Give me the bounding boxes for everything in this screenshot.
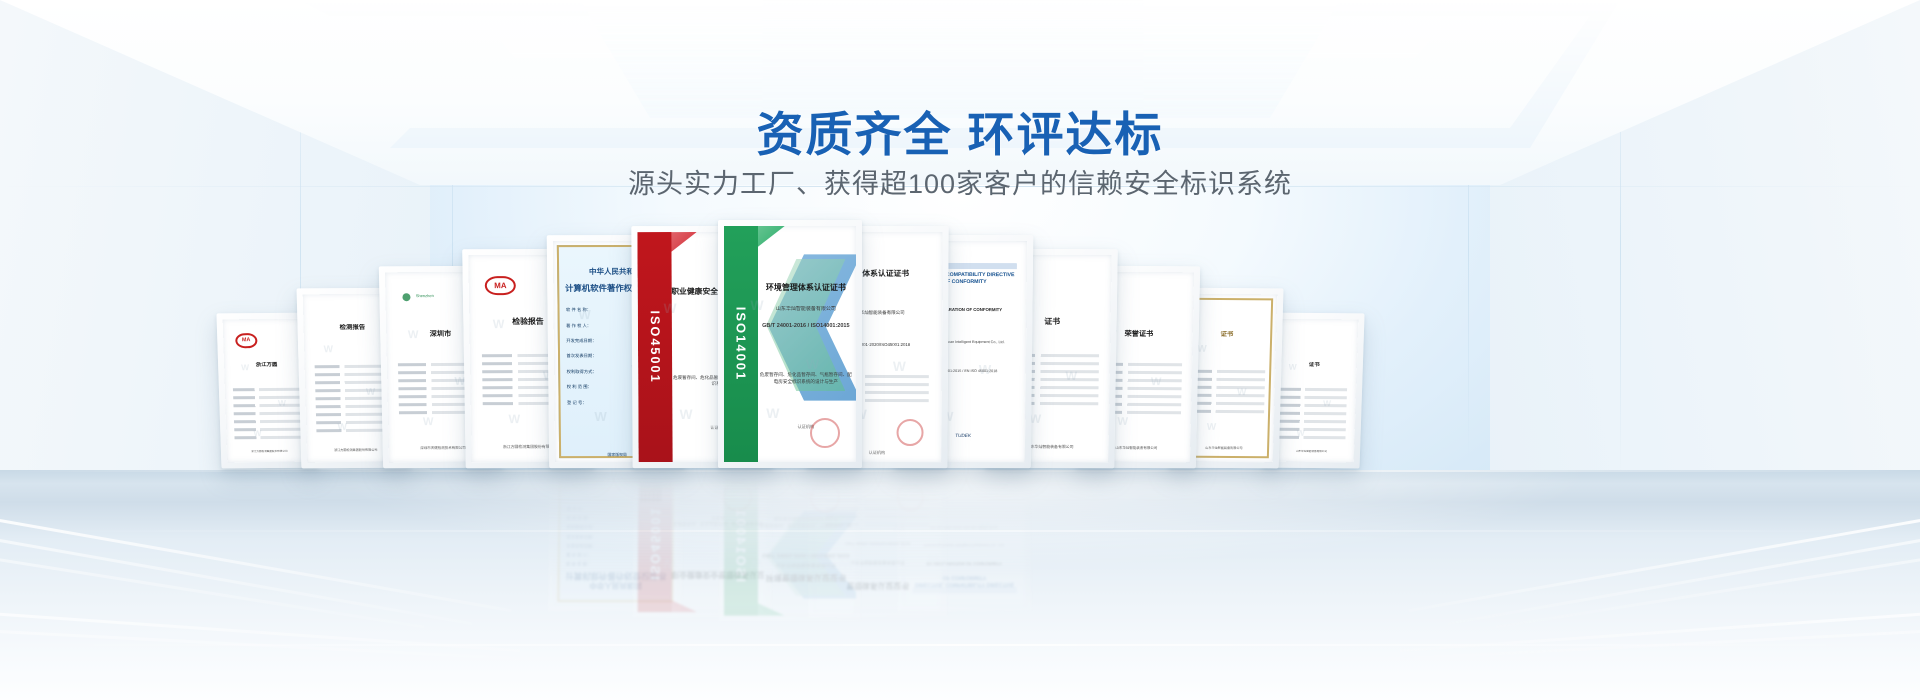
certificate-issuer: 山东华灿智能装备有限公司 [1083, 480, 1192, 485]
paper-watermark: W [1118, 489, 1129, 501]
paper-watermark: W [1296, 427, 1304, 437]
body-line [1278, 419, 1346, 423]
certificate-paper: 证书山东华灿智能装备有限公司WWW [1268, 318, 1358, 462]
paper-watermark: W [366, 386, 376, 397]
certificate-title: 浙江方圆 [224, 525, 309, 533]
paper-watermark: W [594, 409, 607, 424]
paper-watermark: W [1197, 533, 1207, 544]
paper-watermark: W [508, 412, 520, 426]
paper-watermark: W [422, 489, 433, 501]
paper-watermark: W [277, 397, 285, 407]
paper-watermark: W [241, 362, 249, 372]
issuer-logo-label: Shenzhen [417, 569, 482, 575]
body-line [1279, 403, 1347, 407]
body-line [1095, 506, 1182, 509]
certificate-title: 证书 [1271, 361, 1356, 369]
paper-watermark: W [1297, 484, 1305, 494]
body-line [1278, 483, 1346, 487]
certificate-frame-reflection: 证书山东华灿智能装备有限公司WWW [1169, 468, 1282, 581]
body-line [1095, 514, 1182, 517]
paper-watermark: W [508, 490, 520, 504]
frame-mat-reflection [387, 475, 496, 587]
body-line [399, 482, 486, 485]
certificate-body-lines [1277, 474, 1347, 518]
table-row [315, 521, 393, 525]
paper-watermark: W [892, 358, 905, 373]
paper-watermark: W [806, 356, 819, 372]
body-line [1187, 526, 1265, 530]
certificate-issuer: 山东华灿智能装备有限公司 [1269, 450, 1354, 454]
body-line [234, 483, 302, 487]
certificate-body-lines [398, 477, 486, 533]
paper-watermark: W [324, 533, 334, 544]
body-line [1187, 369, 1265, 373]
body-line [398, 514, 485, 517]
body-line [1277, 435, 1345, 439]
table-row [316, 505, 394, 509]
body-line [234, 411, 302, 415]
body-line [233, 387, 301, 391]
certificate-title: 深圳市 [387, 543, 496, 553]
body-line [1279, 395, 1347, 399]
paper-watermark: W [1237, 508, 1247, 519]
body-line [398, 506, 485, 509]
body-line [1095, 530, 1182, 533]
paper-watermark: W [252, 484, 260, 494]
paper-watermark: W [750, 297, 763, 313]
certificate-paper-reflection: Shenzhen深圳市深圳市天健检测技术有限公司WWW [386, 474, 497, 588]
certificate-paper-reflection: 荣誉证书山东华灿智能装备有限公司WWW [1083, 474, 1194, 588]
body-line [1279, 387, 1347, 391]
frame-mat-reflection [224, 475, 310, 558]
body-line [1095, 522, 1182, 525]
certificate-paper-reflection: 证书山东华灿智能装备有限公司WWW [1269, 474, 1357, 559]
body-line [1095, 498, 1182, 501]
certificate-frame-reflection: 检测报告浙江方圆检测集团股份有限公司WWW [298, 468, 411, 581]
certificate-paper-reflection: 检测报告浙江方圆检测集团股份有限公司WWW [304, 474, 404, 574]
certificate-body-lines [233, 387, 303, 444]
certificate-frame-reflection: Shenzhen深圳市深圳市天健检测技术有限公司WWW [380, 468, 503, 594]
certificate-title: 证书 [1178, 543, 1276, 552]
certificate-title: 环境管理体系认证证书 [758, 283, 853, 294]
body-line [1186, 401, 1264, 405]
paper-watermark: W [337, 487, 347, 498]
certificate-frame-reflection: 荣誉证书山东华灿智能装备有限公司WWW [1077, 468, 1200, 594]
certificate-paper-reflection: ISO14001 环境管理体系认证证书GB/T 24001-2016 / ISO… [724, 474, 856, 616]
certificate-body-lines [1186, 481, 1265, 530]
certificate-table [315, 474, 395, 532]
paper-watermark: W [979, 363, 992, 378]
body-line [233, 395, 301, 399]
body-line [233, 507, 301, 511]
certificate-seal [810, 483, 840, 513]
body-line [1094, 482, 1181, 485]
paper-watermark: W [680, 492, 693, 507]
paper-watermark: W [493, 317, 505, 331]
paper-watermark: W [1106, 541, 1117, 553]
paper-watermark: W [664, 556, 677, 571]
paper-watermark: W [493, 546, 505, 560]
table-row [316, 474, 394, 476]
body-line [1186, 486, 1264, 490]
body-line [1279, 507, 1347, 511]
certificate-paper-reflection: MA浙江方圆浙江方圆检测集团股份有限公司WWW [223, 474, 311, 559]
body-line [399, 490, 486, 493]
paper-watermark: W [454, 513, 465, 525]
certificate-body-lines [233, 474, 303, 518]
certificate-frame-reflection: 证书山东华灿智能装备有限公司WWW [1263, 468, 1363, 565]
certificate-standard: GB/T 24001-2016 / ISO14001:2015 [758, 323, 853, 330]
paper-watermark: W [750, 557, 763, 573]
paper-watermark: W [578, 308, 591, 323]
paper-watermark: W [1207, 487, 1217, 498]
table-row [316, 497, 394, 501]
frame-mat-reflection [1270, 475, 1356, 558]
certificate-wall: MA浙江方圆浙江方圆检测集团股份有限公司WWWMA浙江方圆浙江方圆检测集团股份有… [0, 0, 1920, 700]
paper-watermark: W [1197, 344, 1207, 355]
certificate-standard-code: ISO14001 [734, 508, 749, 583]
certificate-gold-border [1180, 478, 1272, 570]
body-line [1187, 377, 1265, 381]
paper-watermark: W [277, 502, 285, 512]
body-line [234, 499, 302, 503]
issuer-logo-icon [403, 566, 411, 574]
paper-watermark: W [766, 492, 779, 508]
certificate-issuer: 浙江方圆检测集团股份有限公司 [306, 480, 404, 485]
certificate-seal [896, 419, 924, 446]
certificate-standard-code: ISO14001 [734, 307, 749, 382]
frame-mat-reflection [1177, 475, 1275, 573]
body-line [1278, 491, 1346, 495]
paper-watermark: W [338, 422, 348, 433]
cma-badge-icon: MA [235, 333, 257, 347]
paper-watermark: W [241, 523, 249, 533]
body-line [234, 475, 302, 479]
certificate-side-band: ISO14001 [724, 226, 758, 462]
body-line [1278, 411, 1346, 415]
banner-stage: 资质齐全 环评达标 源头实力工厂、获得超100家客户的信赖安全标识系统 MA浙江… [0, 0, 1920, 700]
paper-watermark: W [1323, 502, 1331, 512]
body-line [1278, 499, 1346, 503]
certificate-standard-code: ISO45001 [648, 506, 662, 579]
cma-badge-icon: MA [485, 276, 516, 295]
table-row [316, 481, 394, 485]
table-row [315, 513, 393, 517]
issuer-logo-icon [403, 293, 411, 301]
certificate-title: 荣誉证书 [1085, 543, 1194, 553]
certificate-body-lines [1277, 387, 1347, 444]
certificate-issuer: 深圳市天健检测技术有限公司 [388, 480, 497, 485]
body-line [235, 435, 303, 439]
certificate-paper: ISO14001 环境管理体系认证证书GB/T 24001-2016 / ISO… [724, 226, 856, 462]
body-line [1186, 494, 1264, 498]
certificate-side-band: ISO45001 [638, 474, 672, 612]
paper-watermark: W [423, 417, 434, 429]
paper-watermark: W [664, 301, 677, 316]
paper-watermark: W [324, 344, 334, 355]
body-line [398, 530, 485, 533]
certificate-title: 证书 [1271, 525, 1356, 533]
table-row [316, 489, 394, 493]
paper-watermark: W [408, 329, 419, 341]
paper-watermark: W [1065, 369, 1077, 383]
certificate-standard: GB/T 24001-2016 / ISO14001:2015 [758, 550, 853, 557]
body-line [1186, 409, 1264, 413]
certificate-issuer: 山东华灿智能装备有限公司 [1269, 479, 1354, 483]
paper-watermark: W [1288, 362, 1296, 372]
certificate-frame-reflection: ISO14001 环境管理体系认证证书GB/T 24001-2016 / ISO… [718, 468, 862, 622]
paper-watermark: W [408, 541, 419, 553]
body-line [233, 515, 301, 519]
cma-badge-icon: MA [235, 535, 257, 549]
paper-watermark: W [366, 508, 376, 519]
body-line [1278, 475, 1346, 479]
paper-watermark: W [594, 491, 607, 506]
paper-watermark: W [1323, 398, 1331, 408]
certificate-company: 山东华灿智能装备有限公司 [758, 561, 853, 568]
certificate-issuer: 浙江方圆检测集团股份有限公司 [226, 479, 311, 483]
paper-watermark: W [1118, 416, 1129, 428]
paper-watermark: W [1151, 377, 1162, 389]
certificate-issuer: 山东华灿智能装备有限公司 [1176, 481, 1274, 486]
paper-watermark: W [1151, 513, 1162, 525]
paper-watermark: W [1237, 386, 1247, 397]
certificate-title: 浙江方圆 [224, 361, 309, 369]
paper-watermark: W [578, 551, 591, 566]
certificate-frame-reflection: MA浙江方圆浙江方圆检测集团股份有限公司WWW [217, 468, 317, 565]
paper-watermark: W [979, 518, 992, 533]
paper-watermark: W [893, 521, 906, 536]
frame-mat-reflection [305, 475, 403, 573]
body-line [1278, 427, 1346, 431]
body-line [1186, 502, 1264, 506]
paper-watermark: W [253, 428, 261, 438]
body-line [399, 498, 486, 501]
certificate-frame[interactable]: ISO14001 环境管理体系认证证书GB/T 24001-2016 / ISO… [718, 220, 862, 468]
table-row [315, 529, 393, 533]
paper-watermark: W [766, 405, 779, 421]
body-line [1186, 393, 1264, 397]
certificate-standard-code: ISO45001 [648, 310, 662, 383]
certificate-side-band: ISO14001 [724, 474, 758, 616]
body-line [1279, 515, 1347, 519]
paper-watermark: W [1207, 421, 1217, 432]
paper-watermark: W [680, 407, 693, 422]
certificate-paper-reflection: 证书山东华灿智能装备有限公司WWW [1176, 474, 1276, 574]
certificate-seal [810, 418, 840, 448]
certificate-side-band: ISO45001 [638, 232, 673, 462]
frame-mat-reflection [1084, 475, 1193, 587]
body-line [1094, 490, 1181, 493]
certificate-title: 检测报告 [304, 547, 402, 556]
certificate-seal [896, 484, 924, 511]
body-line [234, 491, 302, 495]
paper-watermark: W [1065, 516, 1077, 530]
body-line [234, 419, 302, 423]
body-line [233, 403, 301, 407]
paper-watermark: W [1288, 523, 1296, 533]
certificate-scope-note: 危废暂存间、危化品暂存间、气瓶暂存间、配电房安全标识系统的设计与生产 [760, 372, 852, 386]
body-line [398, 522, 485, 525]
body-line [1186, 510, 1264, 514]
body-line [1186, 385, 1264, 389]
certificate-body-lines [1094, 477, 1182, 533]
certificate-title: 环境管理体系认证证书 [758, 571, 853, 582]
cma-badge-icon: MA [485, 566, 516, 585]
body-line [234, 427, 302, 431]
body-line [1187, 518, 1265, 522]
paper-watermark: W [806, 522, 819, 538]
certificate-company: 山东华灿智能装备有限公司 [758, 306, 853, 313]
certificate-issuer: 浙江方圆检测集团股份有限公司 [227, 450, 312, 454]
